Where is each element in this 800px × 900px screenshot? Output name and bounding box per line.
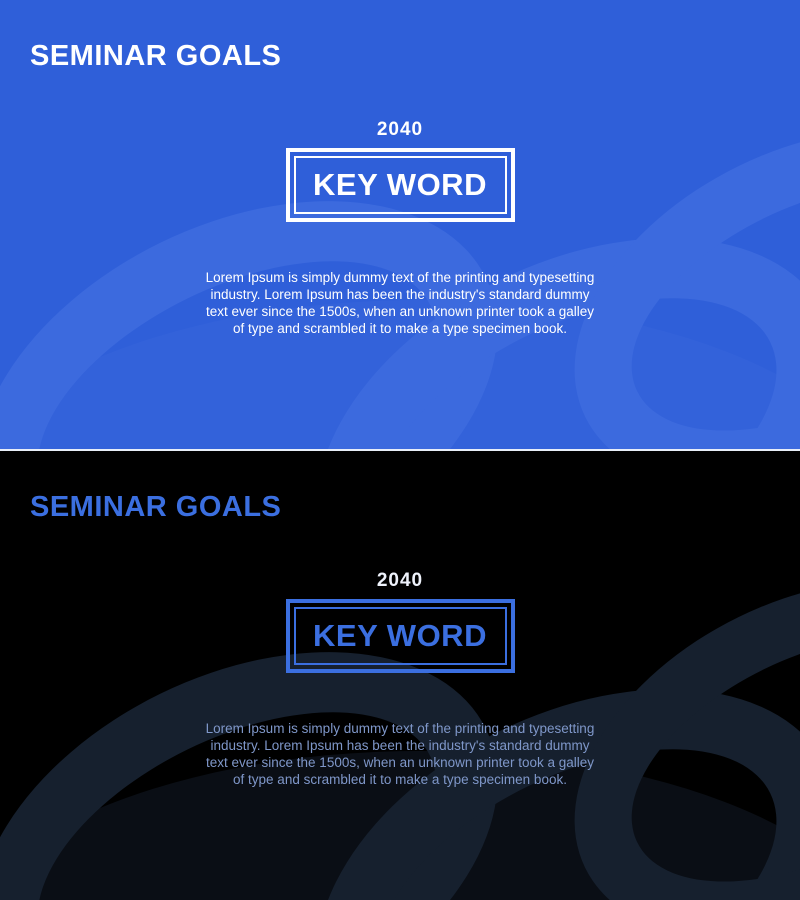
year-label: 2040: [0, 118, 800, 142]
slide-dark-variant: SEMINAR GOALS 2040 KEY WORD Lorem Ipsum …: [0, 451, 800, 900]
keyword-group-light: 2040 KEY WORD: [0, 118, 800, 222]
year-label: 2040: [0, 569, 800, 593]
slide-deck: SEMINAR GOALS 2040 KEY WORD Lorem Ipsum …: [0, 0, 800, 900]
keyword-frame-inner: KEY WORD: [294, 607, 507, 665]
slide-light-variant: SEMINAR GOALS 2040 KEY WORD Lorem Ipsum …: [0, 0, 800, 449]
body-paragraph: Lorem Ipsum is simply dummy text of the …: [200, 720, 600, 788]
keyword-group-dark: 2040 KEY WORD: [0, 569, 800, 673]
slide-content-dark: SEMINAR GOALS 2040 KEY WORD Lorem Ipsum …: [0, 451, 800, 900]
keyword-frame-inner: KEY WORD: [294, 156, 507, 214]
keyword-text: KEY WORD: [313, 167, 487, 203]
keyword-frame: KEY WORD: [286, 599, 515, 673]
keyword-frame: KEY WORD: [286, 148, 515, 222]
body-paragraph: Lorem Ipsum is simply dummy text of the …: [200, 269, 600, 337]
keyword-text: KEY WORD: [313, 618, 487, 654]
page-title: SEMINAR GOALS: [30, 39, 281, 73]
page-title: SEMINAR GOALS: [30, 490, 281, 524]
slide-content-light: SEMINAR GOALS 2040 KEY WORD Lorem Ipsum …: [0, 0, 800, 449]
